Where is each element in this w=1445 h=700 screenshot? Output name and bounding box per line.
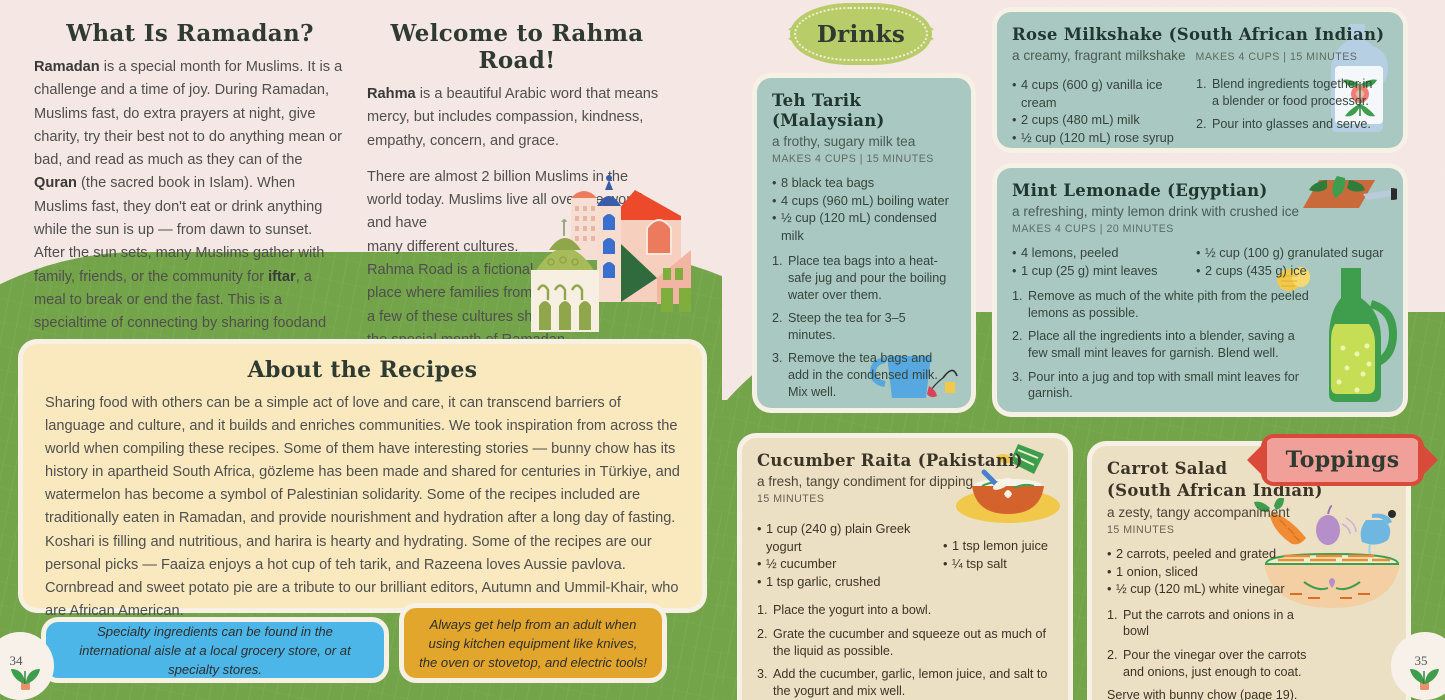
ingredient-item: ½ cucumber [757,555,929,573]
step-list: Place the yogurt into a bowl. Grate the … [757,602,1053,699]
recipe-meta: MAKES 4 CUPS | 15 MINUTES [1196,51,1358,63]
step-item: Place the yogurt into a bowl. [757,602,1053,619]
ingredient-item: ½ cup (120 mL) rose syrup [1012,129,1182,147]
step-item: Steep the tea for 3–5 minutes. [772,310,956,343]
ingredient-list-col1: 1 cup (240 g) plain Greek yogurt ½ cucum… [757,520,929,590]
about-title: About the Recipes [23,344,702,383]
ingredient-item: 2 carrots, peeled and grated [1107,545,1287,563]
about-body: Sharing food with others can be a simple… [23,383,702,623]
step-item: Pour into glasses and serve. [1196,116,1374,133]
ingredient-list-col2: ½ cup (100 g) granulated sugar 2 cups (4… [1196,244,1386,279]
step-item: Put the carrots and onions in a bowl [1107,607,1307,640]
about-the-recipes-box: About the Recipes Sharing food with othe… [23,344,702,608]
recipe-meta: 15 MINUTES [1107,524,1391,536]
recipe-meta: 15 MINUTES [757,493,1053,505]
tip-adult-help: Always get help from an adult when using… [404,608,662,678]
tip-specialty-ingredients: Specialty ingredients can be found in th… [46,622,384,678]
step-list: Remove as much of the white pith from th… [1012,288,1312,402]
recipe-card-rose-milkshake[interactable]: Rose Milkshake (South African Indian) a … [997,12,1403,148]
recipe-card-cucumber-raita[interactable]: Cucumber Raita (Pakistani) a fresh, tang… [742,438,1068,700]
step-list: Blend ingredients together in a blender … [1196,76,1374,146]
ingredient-item: 1 onion, sliced [1107,563,1287,581]
step-item: Blend ingredients together in a blender … [1196,76,1374,109]
ingredient-list: 8 black tea bags 4 cups (960 mL) boiling… [772,174,956,244]
seedling-icon [1407,662,1441,692]
left-page: What Is Ramadan? Ramadan is a special mo… [0,0,722,700]
step-item: Grate the cucumber and squeeze out as mu… [757,626,1053,659]
recipe-serve-note: Serve with bunny chow (page 19). [1107,687,1391,700]
ingredient-item: ¼ tsp salt [943,555,1053,573]
section-ribbon-drinks: Drinks [790,3,932,65]
article-title: Welcome to Rahma Road! [367,20,667,74]
ingredient-list-col1: 4 lemons, peeled 1 cup (25 g) mint leave… [1012,244,1182,279]
recipe-tip: TIP: Best served soon after making. If t… [1012,409,1312,412]
ingredient-list-col2: 1 tsp lemon juice ¼ tsp salt [943,537,1053,590]
ingredient-item: ½ cup (120 mL) condensed milk [772,209,956,244]
step-list: Place tea bags into a heat-safe jug and … [772,253,956,408]
recipe-subtitle: a zesty, tangy accompaniment [1107,504,1391,522]
article-what-is-ramadan: What Is Ramadan? Ramadan is a special mo… [34,20,346,359]
ribbon-label: Toppings [1286,447,1400,473]
ingredient-item: 4 cups (600 g) vanilla ice cream [1012,76,1182,111]
recipe-title: Teh Tarik (Malaysian) [772,91,956,131]
ingredient-item: 8 black tea bags [772,174,956,192]
ingredient-item: 1 cup (25 g) mint leaves [1012,262,1182,280]
ingredient-item: 2 cups (435 g) ice [1196,262,1386,280]
tip-text: Specialty ingredients can be found in th… [60,622,370,679]
ingredient-list: 2 carrots, peeled and grated 1 onion, sl… [1107,545,1287,598]
ingredient-item: 2 cups (480 mL) milk [1012,111,1182,129]
ingredient-item: ½ cup (120 mL) white vinegar [1107,580,1287,598]
step-item: Add the cucumber, garlic, lemon juice, a… [757,666,1053,699]
step-item: Pour into a jug and top with small mint … [1012,369,1312,402]
ingredient-item: ½ cup (100 g) granulated sugar [1196,244,1386,262]
recipe-subtitle: a frothy, sugary milk tea [772,133,956,151]
step-list: Put the carrots and onions in a bowl Pou… [1107,607,1307,680]
ingredient-item: 1 cup (240 g) plain Greek yogurt [757,520,929,555]
ingredient-item: 1 tsp garlic, crushed [757,573,929,591]
recipe-title: Rose Milkshake (South African Indian) [1012,25,1388,45]
recipe-card-teh-tarik[interactable]: Teh Tarik (Malaysian) a frothy, sugary m… [757,78,971,408]
step-item: Remove as much of the white pith from th… [1012,288,1312,321]
section-ribbon-toppings: Toppings [1265,438,1420,482]
recipe-title: Cucumber Raita (Pakistani) [757,451,1053,471]
article-body: Ramadan is a special month for Muslims. … [34,56,346,359]
article-paragraph-1: Rahma is a beautiful Arabic word that me… [367,83,667,153]
recipe-subtitle: a refreshing, minty lemon drink with cru… [1012,203,1388,221]
recipe-title-line2: (South African Indian) [1107,481,1391,501]
ingredient-item: 4 cups (960 mL) boiling water [772,192,956,210]
recipe-card-mint-lemonade[interactable]: Mint Lemonade (Egyptian) a refreshing, m… [997,168,1403,412]
step-item: Place tea bags into a heat-safe jug and … [772,253,956,303]
recipe-meta: MAKES 4 CUPS | 20 MINUTES [1012,223,1388,235]
step-item: Place all the ingredients into a blender… [1012,328,1312,361]
ingredient-item: 4 lemons, peeled [1012,244,1182,262]
article-title: What Is Ramadan? [34,20,346,47]
recipe-meta: MAKES 4 CUPS | 15 MINUTES [772,153,956,165]
ribbon-label: Drinks [817,21,905,48]
step-item: Pour the vinegar over the carrots and on… [1107,647,1307,680]
recipe-subtitle: a creamy, fragrant milkshake [1012,47,1186,65]
recipe-card-carrot-salad[interactable]: Carrot Salad (South African Indian) a ze… [1092,446,1406,700]
recipe-title: Mint Lemonade (Egyptian) [1012,181,1388,201]
article-welcome-to-rahma-road: Welcome to Rahma Road! Rahma is a beauti… [367,20,667,399]
seedling-icon [8,662,42,692]
step-item: Remove the tea bags and add in the conde… [772,350,956,400]
ingredient-item: 1 tsp lemon juice [943,537,1053,555]
tip-text: Always get help from an adult when using… [418,615,648,672]
recipe-subtitle: a fresh, tangy condiment for dipping [757,473,1053,491]
ingredient-list: 4 cups (600 g) vanilla ice cream 2 cups … [1012,76,1182,146]
step-item: Pull the tea by pouring it from one jug … [772,407,956,408]
